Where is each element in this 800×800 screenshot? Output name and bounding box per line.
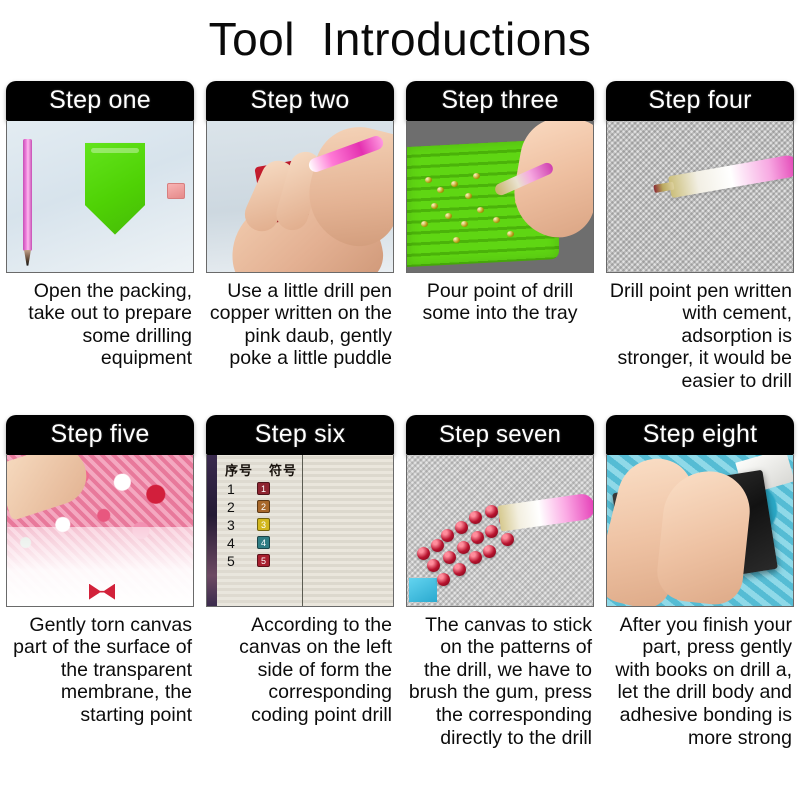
step-header-three: Step three — [406, 81, 594, 121]
step-card-eight: Step eight After you finish your part, p… — [600, 415, 800, 750]
drill-bead-icon — [425, 177, 432, 183]
page-title: Tool Introductions — [0, 0, 800, 65]
step-caption-eight: After you finish your part, press gently… — [606, 607, 794, 750]
red-drill-bead-icon — [417, 547, 430, 560]
step-caption-five: Gently torn canvas part of the surface o… — [6, 607, 194, 727]
step-header-eight: Step eight — [606, 415, 794, 455]
legend-serial: 4 — [227, 535, 237, 551]
green-tray-icon — [85, 143, 145, 235]
legend-header-serial: 序号 — [225, 460, 253, 479]
legend-serial: 2 — [227, 499, 237, 515]
red-drill-bead-icon — [485, 505, 498, 518]
step-card-three: Step three Pour po — [400, 81, 600, 325]
red-drill-bead-icon — [453, 563, 466, 576]
step-caption-seven: The canvas to stick on the patterns of t… — [406, 607, 594, 750]
step-seven-photo — [406, 455, 594, 607]
legend-header-row: 序号 符号 — [213, 460, 298, 479]
red-drill-bead-icon — [469, 551, 482, 564]
legend-row: 5 5 — [213, 552, 298, 570]
step-four-photo — [606, 121, 794, 273]
legend-symbol-swatch: 1 — [257, 482, 270, 495]
fingers-icon — [6, 455, 94, 521]
legend-serial: 1 — [227, 481, 237, 497]
legend-row: 1 1 — [213, 480, 298, 498]
step-eight-photo — [606, 455, 794, 607]
drill-bead-icon — [493, 217, 500, 223]
step-header-seven: Step seven — [406, 415, 594, 455]
legend-row: 3 3 — [213, 516, 298, 534]
step-card-six: Step six 序号 符号 1 1 2 2 — [200, 415, 400, 727]
legend-header-symbol: 符号 — [269, 460, 297, 479]
step-header-six: Step six — [206, 415, 394, 455]
drill-bead-icon — [453, 237, 460, 243]
step-header-two: Step two — [206, 81, 394, 121]
red-drill-bead-icon — [427, 559, 440, 572]
legend-serial: 5 — [227, 553, 237, 569]
red-drill-bead-icon — [469, 511, 482, 524]
red-drill-bead-icon — [485, 525, 498, 538]
legend-serial: 3 — [227, 517, 237, 533]
step-card-seven: Step seven — [400, 415, 600, 750]
drill-bead-icon — [465, 193, 472, 199]
blank-canvas-area — [303, 455, 393, 606]
steps-row-top: Step one Open the packing, take out to p… — [0, 81, 800, 393]
red-drill-bead-icon — [471, 531, 484, 544]
red-drill-bead-icon — [457, 541, 470, 554]
step-header-one: Step one — [6, 81, 194, 121]
drill-bead-icon — [421, 221, 428, 227]
legend-symbol-swatch: 4 — [257, 536, 270, 549]
canvas-edge-strip — [207, 455, 217, 606]
legend-symbol-swatch: 5 — [257, 554, 270, 567]
step-three-photo — [406, 121, 594, 273]
step-header-five: Step five — [6, 415, 194, 455]
red-drill-bead-icon — [455, 521, 468, 534]
legend-row: 4 4 — [213, 534, 298, 552]
step-card-five: Step five Gently torn canvas part of the… — [0, 415, 200, 727]
red-drill-bead-icon — [437, 573, 450, 586]
blue-pattern-icon — [409, 578, 437, 602]
step-caption-two: Use a little drill pen copper written on… — [206, 273, 394, 370]
step-five-photo — [6, 455, 194, 607]
drill-bead-icon — [451, 181, 458, 187]
drill-bead-icon — [431, 203, 438, 209]
step-one-photo — [6, 121, 194, 273]
pink-drill-pen-icon — [668, 153, 794, 197]
drill-bead-icon — [473, 173, 480, 179]
steps-row-bottom: Step five Gently torn canvas part of the… — [0, 415, 800, 750]
pink-pencil-icon — [23, 139, 32, 251]
step-card-two: Step two Use a little drill pen copper w… — [200, 81, 400, 370]
tool-introductions-page: Tool Introductions Step one Open the pac… — [0, 0, 800, 800]
drill-bead-icon — [507, 231, 514, 237]
drill-bead-icon — [461, 221, 468, 227]
coding-legend-table: 序号 符号 1 1 2 2 3 3 — [207, 455, 303, 606]
pink-wax-cube-icon — [167, 183, 185, 199]
transparent-membrane-icon — [7, 527, 193, 606]
step-two-photo — [206, 121, 394, 273]
legend-symbol-swatch: 3 — [257, 518, 270, 531]
step-card-one: Step one Open the packing, take out to p… — [0, 81, 200, 370]
red-drill-bead-icon — [501, 533, 514, 546]
red-drill-bead-icon — [443, 551, 456, 564]
drill-bead-icon — [445, 213, 452, 219]
step-caption-four: Drill point pen written with cement, ads… — [606, 273, 794, 393]
legend-symbol-swatch: 2 — [257, 500, 270, 513]
drill-bead-icon — [437, 187, 444, 193]
red-drill-bead-icon — [431, 539, 444, 552]
step-caption-three: Pour point of drill some into the tray — [406, 273, 594, 325]
legend-row: 2 2 — [213, 498, 298, 516]
drill-bead-icon — [477, 207, 484, 213]
red-drill-bead-icon — [441, 529, 454, 542]
red-drill-bead-icon — [483, 545, 496, 558]
step-caption-one: Open the packing, take out to prepare so… — [6, 273, 194, 370]
step-six-photo: 序号 符号 1 1 2 2 3 3 — [206, 455, 394, 607]
step-header-four: Step four — [606, 81, 794, 121]
pink-drill-pen-icon — [498, 492, 594, 531]
step-card-four: Step four Drill point pen written with c… — [600, 81, 800, 393]
step-caption-six: According to the canvas on the left side… — [206, 607, 394, 727]
